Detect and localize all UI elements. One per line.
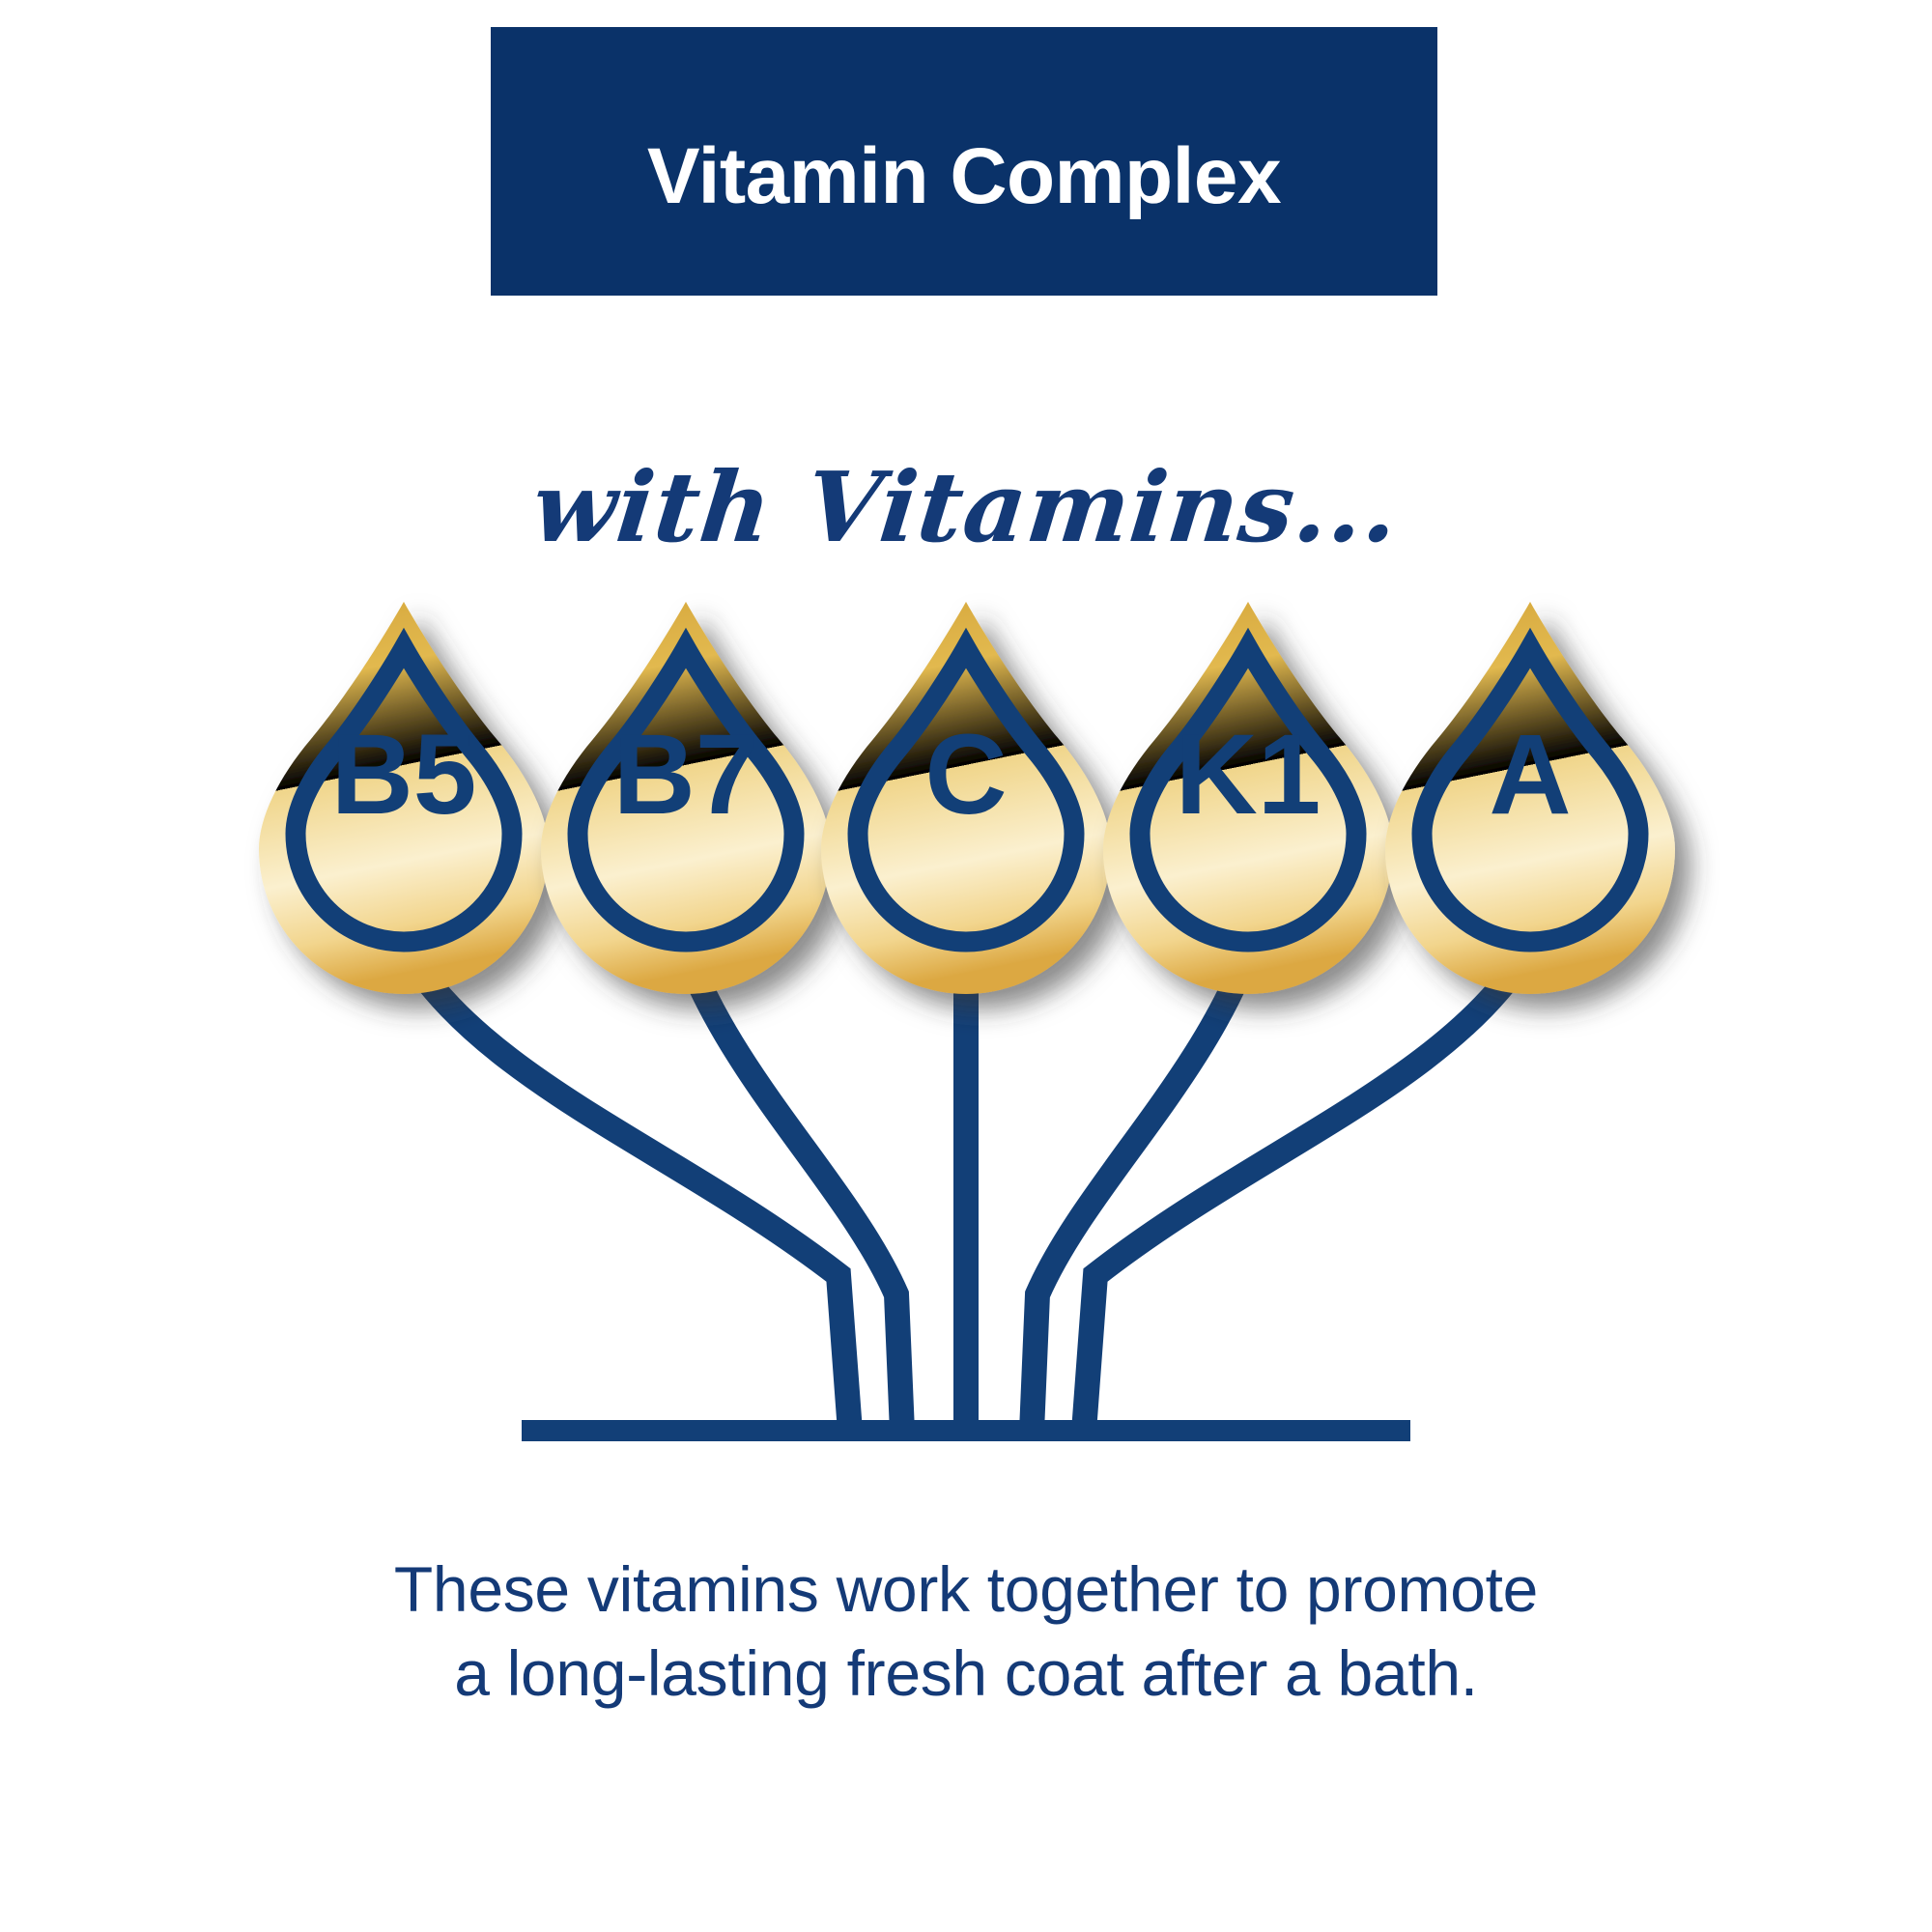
subtitle-script-text: with Vitamins... (0, 454, 1932, 560)
droplet-c[interactable]: C (821, 602, 1111, 994)
caption-block: These vitamins work together to promote … (0, 1548, 1932, 1716)
stem-group (404, 947, 1530, 1432)
infographic-canvas: Vitamin Complex with Vitamins... (0, 0, 1932, 1932)
header-banner: Vitamin Complex (491, 27, 1437, 296)
base-line (522, 1420, 1410, 1441)
droplet-a-label: A (1489, 711, 1571, 838)
droplet-b5[interactable]: B5 (259, 602, 549, 994)
droplet-b7-label: B7 (613, 711, 759, 838)
droplet-b7[interactable]: B7 (541, 602, 831, 994)
page-title: Vitamin Complex (647, 137, 1281, 296)
droplet-k1-label: K1 (1176, 711, 1321, 838)
stem-k1 (1032, 952, 1248, 1432)
droplet-k1[interactable]: K1 (1103, 602, 1393, 994)
droplet-a[interactable]: A (1385, 602, 1675, 994)
stem-a (1084, 947, 1530, 1432)
caption-line-2: a long-lasting fresh coat after a bath. (0, 1632, 1932, 1716)
caption-line-1: These vitamins work together to promote (0, 1548, 1932, 1632)
stem-b7 (686, 952, 902, 1432)
droplet-b5-label: B5 (331, 711, 477, 838)
stem-b5 (404, 947, 850, 1432)
droplet-c-label: C (924, 711, 1007, 838)
